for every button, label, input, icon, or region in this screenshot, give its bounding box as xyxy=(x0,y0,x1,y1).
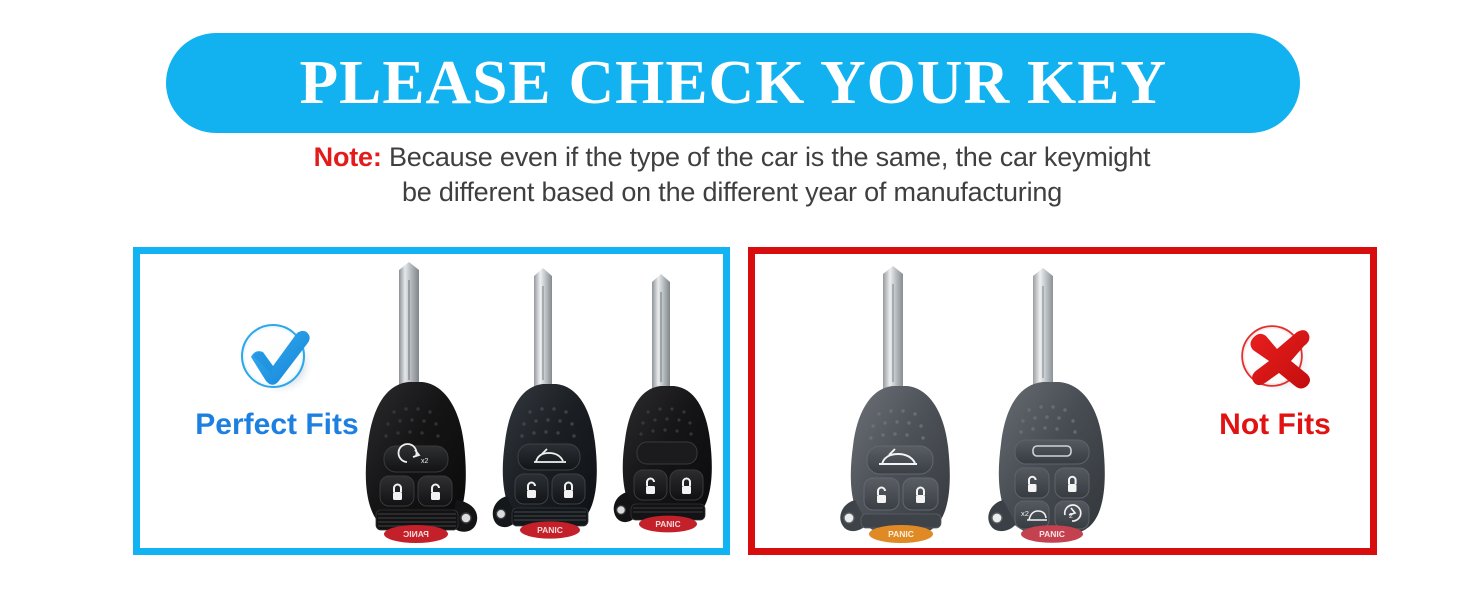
key-fob-2: PANIC xyxy=(490,268,612,540)
panic-label-3: PANIC xyxy=(655,519,680,529)
note-label: Note: xyxy=(314,142,382,172)
note-text-1: Because even if the type of the car is t… xyxy=(382,142,1151,172)
verdict-not-fits: Not Fits xyxy=(1185,316,1365,442)
panic-label-4: PANIC xyxy=(888,529,914,539)
note-line-2: be different based on the different year… xyxy=(0,175,1464,210)
verdict-label-perfect-fits: Perfect Fits xyxy=(195,408,358,442)
panic-label-1: PANIC xyxy=(403,529,429,539)
note-block: Note: Because even if the type of the ca… xyxy=(0,140,1464,209)
panel-perfect-fits: Perfect Fits xyxy=(133,247,730,555)
blue-check-icon xyxy=(229,316,325,400)
banner-title: PLEASE CHECK YOUR KEY xyxy=(299,48,1167,119)
svg-text:x2: x2 xyxy=(1021,509,1029,518)
key-fob-1: x2 PANIC xyxy=(352,262,484,544)
verdict-perfect-fits: Perfect Fits xyxy=(192,316,362,442)
key-fob-4: PANIC xyxy=(837,266,965,544)
verdict-label-not-fits: Not Fits xyxy=(1219,408,1331,442)
svg-text:2: 2 xyxy=(1069,513,1073,520)
svg-text:x2: x2 xyxy=(421,458,429,465)
panic-label-2: PANIC xyxy=(537,525,563,535)
red-cross-icon xyxy=(1227,316,1323,400)
header-banner: PLEASE CHECK YOUR KEY xyxy=(166,33,1300,133)
panic-label-5: PANIC xyxy=(1039,529,1065,539)
key-fob-3: PANIC xyxy=(610,274,723,534)
key-fob-5: x2 2 PANIC xyxy=(985,268,1121,544)
panel-not-fits: PANIC xyxy=(748,247,1377,555)
note-line-1: Note: Because even if the type of the ca… xyxy=(0,140,1464,175)
